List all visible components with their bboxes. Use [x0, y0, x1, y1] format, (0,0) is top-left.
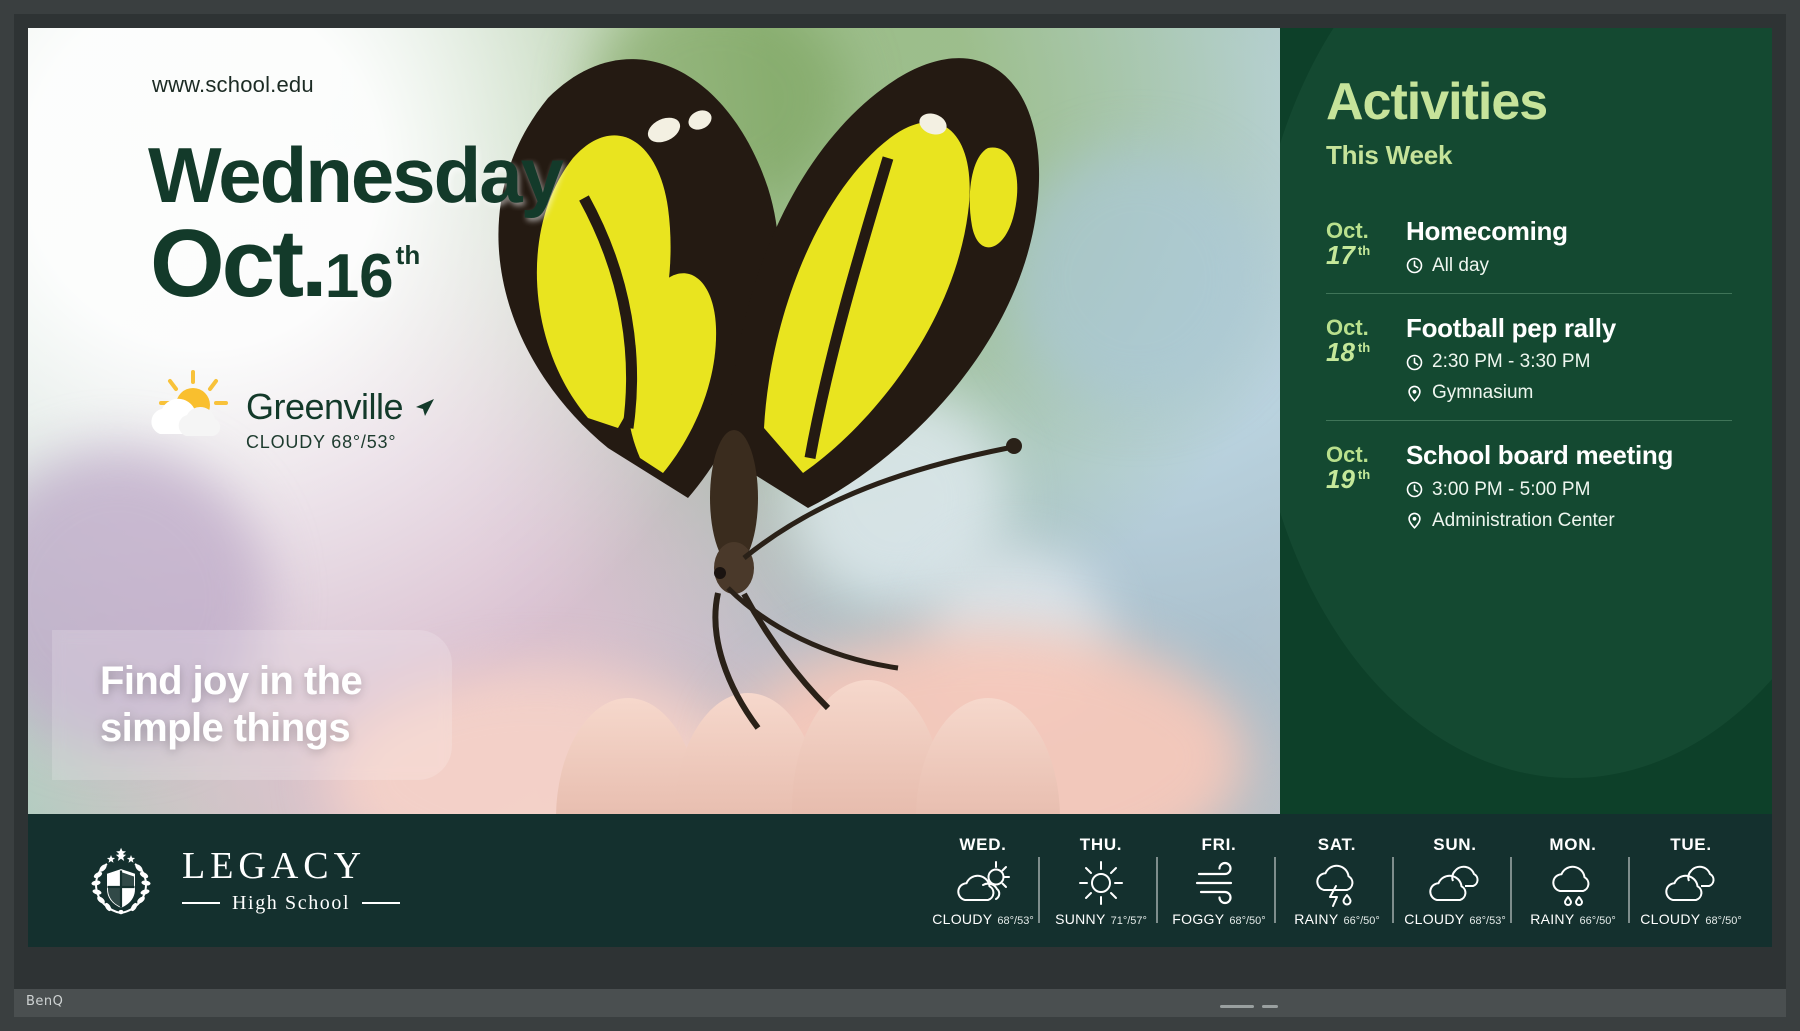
cloud-rain-icon — [1545, 859, 1601, 907]
bezel-indicator-1 — [1220, 1005, 1254, 1008]
date-line: Oct. 16 th — [150, 220, 420, 308]
sun-icon — [1073, 859, 1129, 907]
forecast-temps: 68°/50° — [1705, 915, 1741, 927]
activity-time: All day — [1432, 255, 1489, 277]
current-weather-text: Greenville CLOUDY 68°/53° — [246, 368, 435, 453]
forecast-day-name: SUN. — [1433, 835, 1476, 855]
weekly-forecast: WED. CLOUDY — [482, 835, 1750, 927]
forecast-condition: RAINY — [1530, 911, 1574, 927]
forecast-day-fri[interactable]: FRI. FOGGY 68°/50° — [1160, 835, 1278, 927]
activity-date: Oct. 17 th — [1326, 217, 1392, 277]
forecast-temps: 66°/50° — [1579, 915, 1615, 927]
forecast-day-name: WED. — [959, 835, 1006, 855]
school-logo-text: LEGACY High School — [182, 847, 400, 915]
forecast-day-name: THU. — [1080, 835, 1122, 855]
list-item[interactable]: Oct. 17 th Homecoming — [1326, 207, 1732, 293]
activity-location-row: Administration Center — [1406, 510, 1732, 532]
activity-day: 18 — [1326, 339, 1355, 365]
forecast-day-name: FRI. — [1202, 835, 1237, 855]
activity-day-suffix: th — [1358, 243, 1370, 258]
school-logo: LEGACY High School — [82, 842, 482, 920]
activity-day: 17 — [1326, 242, 1355, 268]
forecast-day-sun[interactable]: SUN. CLOUDY 68°/53° — [1396, 835, 1514, 927]
activity-time: 3:00 PM - 5:00 PM — [1432, 479, 1590, 501]
activity-time-row: All day — [1406, 255, 1732, 277]
forecast-temps: 71°/57° — [1111, 915, 1147, 927]
activity-day: 19 — [1326, 466, 1355, 492]
sun-cloud-icon — [146, 370, 238, 442]
forecast-temps: 68°/53° — [997, 915, 1033, 927]
clouds-icon — [1427, 859, 1483, 907]
footer-bar: LEGACY High School WED. — [28, 814, 1772, 947]
shield-laurel-crest-icon — [82, 842, 160, 920]
location-pin-icon — [1406, 385, 1423, 402]
weekday-label: Wednesday — [148, 136, 562, 214]
forecast-condition: RAINY — [1294, 911, 1338, 927]
screen: www.school.edu Wednesday Oct. 16 th — [28, 28, 1772, 947]
clock-icon — [1406, 481, 1423, 498]
quote-card: Find joy in the simple things — [52, 630, 452, 780]
city-name: Greenville — [246, 386, 403, 428]
forecast-condition: SUNNY — [1055, 911, 1106, 927]
forecast-condition: CLOUDY — [1404, 911, 1464, 927]
logo-rule-left — [182, 902, 220, 904]
cloud-sun-icon — [955, 859, 1011, 907]
logo-rule-right — [362, 902, 400, 904]
current-weather: Greenville CLOUDY 68°/53° — [146, 368, 435, 453]
activity-date: Oct. 19 th — [1326, 441, 1392, 532]
activity-location: Administration Center — [1432, 510, 1615, 532]
activities-subtitle: This Week — [1326, 140, 1732, 171]
activities-sidebar: Activities This Week Oct. 17 th — [1280, 28, 1772, 814]
cloud-lightning-rain-icon — [1309, 859, 1365, 907]
wind-icon — [1191, 859, 1247, 907]
school-name: LEGACY — [182, 845, 366, 887]
forecast-day-name: MON. — [1549, 835, 1596, 855]
day-suffix: th — [396, 240, 421, 271]
activity-day-suffix: th — [1358, 340, 1370, 355]
activity-time: 2:30 PM - 3:30 PM — [1432, 351, 1590, 373]
city-row: Greenville — [246, 386, 435, 428]
activity-title: Homecoming — [1406, 217, 1732, 246]
forecast-condition: FOGGY — [1172, 911, 1224, 927]
location-pin-icon — [1406, 512, 1423, 529]
day-number: 16 — [325, 246, 394, 308]
clock-icon — [1406, 257, 1423, 274]
school-subtitle: High School — [232, 892, 350, 915]
activity-list: Oct. 17 th Homecoming — [1326, 207, 1732, 548]
forecast-day-name: SAT. — [1318, 835, 1356, 855]
bezel-indicator-2 — [1262, 1005, 1278, 1008]
activity-title: School board meeting — [1406, 441, 1732, 470]
activity-date: Oct. 18 th — [1326, 314, 1392, 405]
forecast-day-sat[interactable]: SAT. RAINY 66°/50° — [1278, 835, 1396, 927]
forecast-day-wed[interactable]: WED. CLOUDY — [924, 835, 1042, 927]
forecast-temps: 68°/50° — [1229, 915, 1265, 927]
site-url: www.school.edu — [152, 72, 314, 98]
activity-time-row: 2:30 PM - 3:30 PM — [1406, 351, 1732, 373]
hero-photo: www.school.edu Wednesday Oct. 16 th — [28, 28, 1280, 814]
display-frame: www.school.edu Wednesday Oct. 16 th — [0, 0, 1800, 1031]
forecast-condition: CLOUDY — [932, 911, 992, 927]
current-condition: CLOUDY 68°/53° — [246, 432, 435, 453]
quote-line-1: Find joy in the — [100, 658, 362, 705]
clouds-icon — [1663, 859, 1719, 907]
clock-icon — [1406, 354, 1423, 371]
activities-title: Activities — [1326, 76, 1732, 128]
quote-line-2: simple things — [100, 705, 362, 752]
forecast-day-tue[interactable]: TUE. CLOUDY 68°/50° — [1632, 835, 1750, 927]
activity-location-row: Gymnasium — [1406, 382, 1732, 404]
list-item[interactable]: Oct. 19 th School board meeting — [1326, 420, 1732, 548]
butterfly-wings — [498, 58, 1039, 508]
forecast-day-name: TUE. — [1670, 835, 1712, 855]
forecast-temps: 68°/53° — [1469, 915, 1505, 927]
activity-location: Gymnasium — [1432, 382, 1533, 404]
forecast-condition: CLOUDY — [1640, 911, 1700, 927]
forecast-day-mon[interactable]: MON. RAINY 66°/50° — [1514, 835, 1632, 927]
activity-month: Oct. — [1326, 443, 1392, 466]
forecast-day-thu[interactable]: THU. — [1042, 835, 1160, 927]
activity-month: Oct. — [1326, 316, 1392, 339]
activity-title: Football pep rally — [1406, 314, 1732, 343]
activity-month: Oct. — [1326, 219, 1392, 242]
list-item[interactable]: Oct. 18 th Football pep rally — [1326, 293, 1732, 421]
location-arrow-icon[interactable] — [413, 396, 435, 418]
quote-text: Find joy in the simple things — [52, 658, 362, 752]
month-label: Oct. — [150, 220, 325, 308]
hand-fingers — [556, 680, 1060, 814]
bezel-bottom-strip: BenQ — [14, 989, 1786, 1017]
activity-time-row: 3:00 PM - 5:00 PM — [1406, 479, 1732, 501]
activity-day-suffix: th — [1358, 467, 1370, 482]
forecast-temps: 66°/50° — [1343, 915, 1379, 927]
benq-brand-logo: BenQ — [26, 994, 63, 1009]
